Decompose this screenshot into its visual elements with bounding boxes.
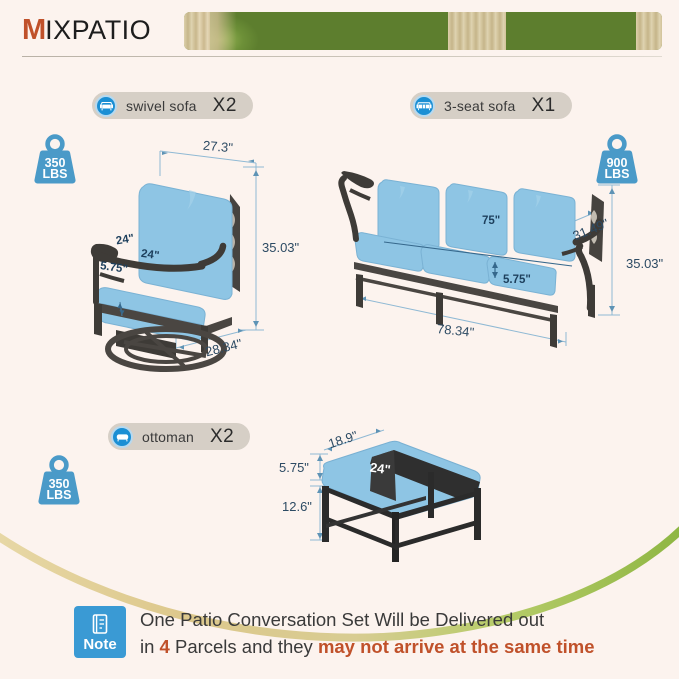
- tropical-garden-banner: [184, 12, 662, 50]
- note-line-2-mid: Parcels and they: [170, 636, 318, 657]
- product-label-text: ottoman: [142, 429, 194, 445]
- brand-logo: M IXPATIO: [22, 16, 151, 45]
- note-line-2-prefix: in: [140, 636, 160, 657]
- dim-swivel-seat-cushion: 24": [140, 248, 160, 262]
- product-count: X2: [213, 95, 237, 117]
- product-count: X2: [210, 426, 234, 448]
- note-line-2: in 4 Parcels and they may not arrive at …: [140, 633, 670, 660]
- weight-unit: LBS: [47, 488, 72, 502]
- note-line-1-text: One Patio Conversation Set Will be Deliv…: [140, 609, 544, 630]
- product-label-text: swivel sofa: [126, 98, 197, 114]
- dim-sofa-cushion-thickness: 5.75": [503, 274, 531, 286]
- dim-swivel-width: 27.3": [202, 138, 233, 156]
- weight-unit: LBS: [43, 167, 68, 181]
- note-badge-label: Note: [83, 637, 116, 652]
- dim-ottoman-cushion-thickness: 5.75": [279, 460, 309, 475]
- product-label-ottoman: ottoman X2: [108, 423, 250, 450]
- note-warning-text: may not arrive at the same time: [318, 636, 595, 657]
- header: M IXPATIO: [0, 0, 679, 62]
- dim-sofa-height: 35.03": [626, 256, 663, 271]
- note-badge: Note: [74, 606, 126, 658]
- ottoman-icon: [111, 426, 133, 448]
- dim-ottoman-width: 24": [369, 460, 392, 478]
- sofa-icon: [413, 95, 435, 117]
- product-count: X1: [531, 95, 555, 117]
- weight-badge-swivel-sofa: 350 LBS: [28, 134, 82, 186]
- weight-badge-ottoman: 350 LBS: [32, 455, 86, 507]
- armchair-icon: [95, 95, 117, 117]
- dim-sofa-back-cushion: 75": [482, 215, 500, 227]
- dim-swivel-height: 35.03": [262, 240, 299, 255]
- note-line-1: One Patio Conversation Set Will be Deliv…: [140, 606, 670, 633]
- document-icon: [90, 613, 110, 635]
- note-parcel-count: 4: [160, 636, 170, 657]
- product-label-swivel-sofa: swivel sofa X2: [92, 92, 253, 119]
- product-label-text: 3-seat sofa: [444, 98, 515, 114]
- header-divider: [22, 56, 662, 57]
- logo-m-mark: M: [22, 16, 45, 45]
- note-message: One Patio Conversation Set Will be Deliv…: [140, 606, 670, 660]
- dim-ottoman-leg-height: 12.6": [282, 499, 312, 514]
- product-label-3-seat-sofa: 3-seat sofa X1: [410, 92, 572, 119]
- 3-seat-sofa-illustration: [340, 150, 640, 370]
- infographic-page: M IXPATIO swivel sofa X2: [0, 0, 679, 679]
- logo-wordmark: IXPATIO: [45, 17, 151, 44]
